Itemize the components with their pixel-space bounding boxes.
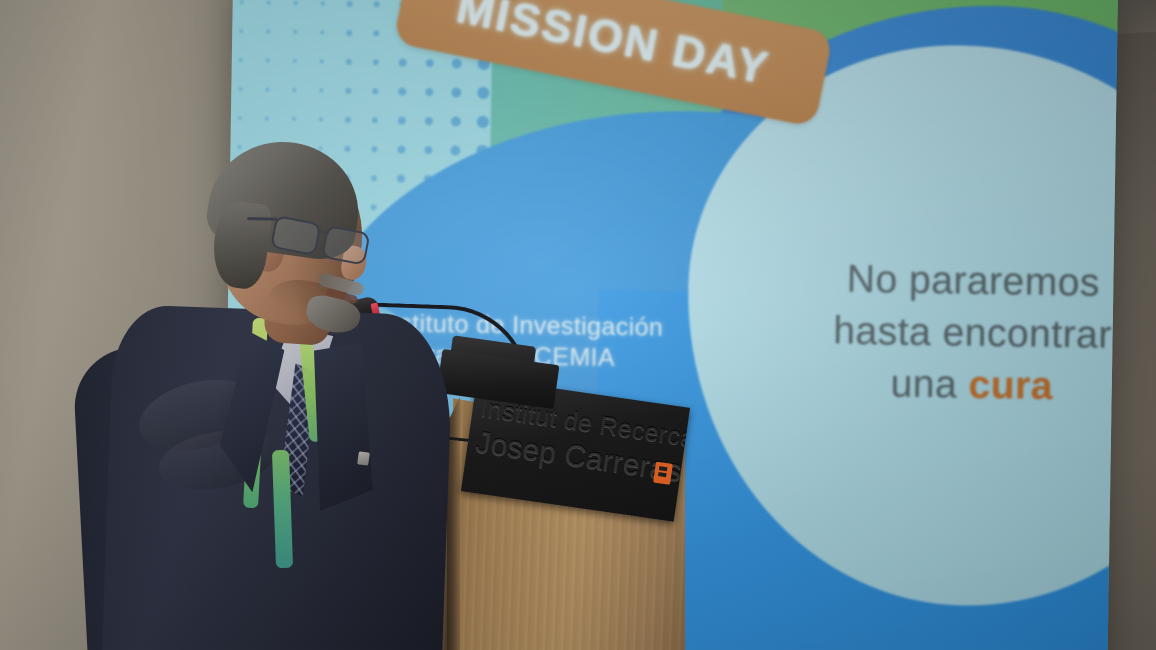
josep-carreras-logo-icon bbox=[653, 462, 673, 485]
conference-photo: MISSION DAY Instituto de Investigación c… bbox=[0, 0, 1156, 650]
eyeglass-bridge bbox=[319, 230, 329, 234]
slogan-line3-plain: una bbox=[890, 362, 969, 406]
speaker-person bbox=[118, 150, 478, 650]
slogan-line-2: hasta encontrar bbox=[737, 304, 1118, 363]
slide-slogan: No pararemos hasta encontrar una cura bbox=[736, 252, 1117, 415]
slogan-line-3: una cura bbox=[736, 356, 1117, 415]
lapel-pin bbox=[357, 451, 370, 465]
slogan-line-1: No pararemos bbox=[738, 252, 1118, 311]
eyeglass-lens-right bbox=[321, 225, 370, 266]
eyeglass-temple-arm bbox=[247, 217, 277, 220]
eyeglass-lens-left bbox=[270, 215, 321, 256]
slogan-accent-cura: cura bbox=[968, 363, 1053, 407]
